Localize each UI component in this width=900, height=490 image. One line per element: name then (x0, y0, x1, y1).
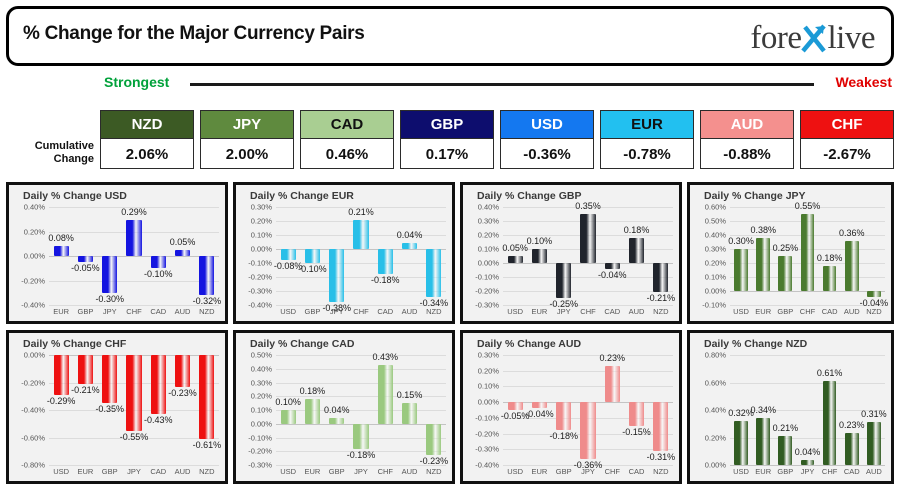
chart-panel-aud[interactable]: Daily % Change AUD0.30%0.20%0.10%0.00%-0… (460, 330, 682, 484)
bar[interactable] (175, 355, 190, 387)
x-axis-tick-label: CHF (605, 467, 620, 476)
bar[interactable] (329, 418, 344, 424)
bar[interactable] (199, 256, 214, 295)
bar[interactable] (605, 366, 620, 402)
y-axis-tick-label: 0.60% (692, 203, 726, 212)
plot-area: 0.40%0.30%0.20%0.10%0.00%-0.10%-0.20%-0.… (463, 185, 679, 321)
bar-value-label: -0.55% (120, 432, 149, 442)
cumulative-value: -0.36% (500, 138, 594, 169)
bar-value-label: 0.08% (48, 233, 74, 243)
y-axis-tick-label: 0.20% (465, 231, 499, 240)
x-axis-tick-label: EUR (532, 467, 548, 476)
y-axis-tick-label: 0.00% (238, 419, 272, 428)
x-axis-tick-label: AUD (402, 307, 418, 316)
chart-panel-gbp[interactable]: Daily % Change GBP0.40%0.30%0.20%0.10%0.… (460, 182, 682, 324)
cumulative-cell-gbp[interactable]: GBP0.17% (400, 110, 494, 170)
y-axis-tick-label: -0.20% (238, 447, 272, 456)
bar-value-label: 0.30% (728, 236, 754, 246)
gridline (276, 355, 446, 356)
y-axis-tick-label: 0.40% (11, 203, 45, 212)
currency-code-badge: EUR (600, 110, 694, 138)
gridline (49, 465, 219, 466)
y-axis-tick-label: 0.00% (692, 461, 726, 470)
x-axis-tick-label: USD (733, 307, 749, 316)
bar[interactable] (734, 249, 748, 291)
bar-value-label: -0.30% (95, 294, 124, 304)
bar-value-label: 0.23% (839, 420, 865, 430)
y-axis-tick-label: -0.80% (11, 461, 45, 470)
chart-panel-chf[interactable]: Daily % Change CHF0.00%-0.20%-0.40%-0.60… (6, 330, 228, 484)
bar-value-label: 0.55% (795, 201, 821, 211)
bar[interactable] (629, 238, 644, 263)
logo-x-arrow-icon (802, 21, 828, 55)
bar-value-label: 0.18% (624, 225, 650, 235)
x-axis-tick-label: EUR (532, 307, 548, 316)
x-axis-tick-label: JPY (330, 307, 344, 316)
bar-value-label: 0.04% (324, 405, 350, 415)
y-axis-tick-label: -0.30% (238, 287, 272, 296)
x-axis-tick-label: EUR (755, 467, 771, 476)
bar[interactable] (734, 421, 748, 465)
bar-value-label: -0.31% (647, 452, 676, 462)
cumulative-value: -2.67% (800, 138, 894, 169)
bar[interactable] (378, 365, 393, 424)
bar[interactable] (823, 381, 837, 465)
gridline (503, 386, 673, 387)
bar-value-label: 0.18% (300, 386, 326, 396)
bar[interactable] (845, 241, 859, 291)
zero-baseline (503, 263, 673, 264)
weakest-label: Weakest (835, 74, 892, 90)
bar[interactable] (556, 263, 571, 298)
plot-area: 0.30%0.20%0.10%0.00%-0.10%-0.20%-0.30%-0… (463, 333, 679, 481)
y-axis-tick-label: 0.10% (465, 245, 499, 254)
bar-value-label: 0.31% (861, 409, 887, 419)
zero-baseline (49, 256, 219, 257)
bar[interactable] (78, 256, 93, 262)
gridline (503, 355, 673, 356)
bar[interactable] (402, 243, 417, 249)
plot-area: 0.80%0.60%0.40%0.20%0.00%0.32%USD0.34%EU… (690, 333, 891, 481)
bar-value-label: -0.61% (193, 440, 222, 450)
bar[interactable] (756, 418, 770, 465)
y-axis-tick-label: 0.20% (465, 366, 499, 375)
bar-value-label: 0.21% (773, 423, 799, 433)
strength-rail: Strongest Weakest (0, 72, 900, 94)
y-axis-tick-label: -0.20% (238, 273, 272, 282)
gridline (503, 277, 673, 278)
x-axis-tick-label: EUR (305, 467, 321, 476)
plot-area: 0.40%0.20%0.00%-0.20%-0.40%0.08%EUR-0.05… (9, 185, 225, 321)
y-axis-tick-label: -0.30% (465, 301, 499, 310)
x-axis-tick-label: GBP (102, 467, 118, 476)
plot-area: 0.00%-0.20%-0.40%-0.60%-0.80%-0.29%USD-0… (9, 333, 225, 481)
bar-value-label: 0.38% (750, 225, 776, 235)
cumulative-cell-chf[interactable]: CHF-2.67% (800, 110, 894, 170)
x-axis-tick-label: CHF (800, 307, 815, 316)
bar[interactable] (426, 249, 441, 297)
bar-value-label: 0.34% (750, 405, 776, 415)
bar[interactable] (305, 399, 320, 424)
bar[interactable] (508, 402, 523, 410)
gridline (503, 291, 673, 292)
cumulative-value: 0.17% (400, 138, 494, 169)
x-axis-tick-label: USD (280, 467, 296, 476)
gridline (276, 383, 446, 384)
currency-code-badge: JPY (200, 110, 294, 138)
y-axis-tick-label: 0.80% (692, 351, 726, 360)
y-axis-tick-label: 0.30% (238, 378, 272, 387)
strongest-label: Strongest (104, 74, 169, 90)
bar[interactable] (151, 256, 166, 268)
cumulative-cell-eur[interactable]: EUR-0.78% (600, 110, 694, 170)
gridline (503, 305, 673, 306)
currency-code-badge: CHF (800, 110, 894, 138)
bar[interactable] (199, 355, 214, 439)
y-axis-tick-label: 0.30% (692, 245, 726, 254)
bar[interactable] (756, 238, 770, 291)
logo-text-pre: fore (750, 20, 801, 57)
y-axis-tick-label: 0.00% (11, 351, 45, 360)
x-axis-tick-label: GBP (305, 307, 321, 316)
cumulative-cell-jpy[interactable]: JPY2.00% (200, 110, 294, 170)
x-axis-tick-label: EUR (755, 307, 771, 316)
bar-value-label: -0.29% (47, 396, 76, 406)
bar-value-label: -0.15% (622, 427, 651, 437)
zero-baseline (730, 291, 885, 292)
bar[interactable] (54, 355, 69, 395)
x-axis-tick-label: GBP (556, 467, 572, 476)
plot-area: 0.50%0.40%0.30%0.20%0.10%0.00%-0.10%-0.2… (236, 333, 452, 481)
y-axis-tick-label: -0.20% (11, 378, 45, 387)
x-axis-tick-label: NZD (199, 467, 214, 476)
bar-value-label: 0.29% (121, 207, 147, 217)
bar[interactable] (778, 256, 792, 291)
y-axis-tick-label: 0.50% (692, 217, 726, 226)
y-axis-tick-label: -0.20% (465, 287, 499, 296)
currency-code-badge: GBP (400, 110, 494, 138)
x-axis-tick-label: NZD (199, 307, 214, 316)
currency-code-badge: CAD (300, 110, 394, 138)
x-axis-tick-label: JPY (354, 467, 368, 476)
forex-percent-change-dashboard: % Change for the Major Currency Pairs fo… (0, 0, 900, 490)
x-axis-tick-label: AUD (844, 307, 860, 316)
x-axis-tick-label: CAD (604, 307, 620, 316)
cumulative-cell-aud[interactable]: AUD-0.88% (700, 110, 794, 170)
bar[interactable] (532, 402, 547, 408)
bar-value-label: 0.18% (817, 253, 843, 263)
zero-baseline (730, 465, 885, 466)
header-bar: % Change for the Major Currency Pairs fo… (6, 6, 894, 66)
x-axis-tick-label: USD (280, 307, 296, 316)
cumulative-change-label: Cumulative Change (2, 140, 94, 166)
bar[interactable] (54, 246, 69, 256)
y-axis-tick-label: 0.40% (692, 406, 726, 415)
forexlive-logo: forelive (750, 17, 875, 59)
bar[interactable] (532, 249, 547, 263)
bar[interactable] (281, 249, 296, 260)
y-axis-tick-label: -0.60% (11, 433, 45, 442)
bar-value-label: 0.05% (502, 243, 528, 253)
bar-value-label: 0.61% (817, 368, 843, 378)
bar[interactable] (653, 402, 668, 451)
bar[interactable] (329, 249, 344, 302)
x-axis-tick-label: CHF (126, 307, 141, 316)
zero-baseline (276, 249, 446, 250)
x-axis-tick-label: NZD (426, 467, 441, 476)
chart-panel-usd[interactable]: Daily % Change USD0.40%0.20%0.00%-0.20%-… (6, 182, 228, 324)
bar[interactable] (305, 249, 320, 263)
bar[interactable] (653, 263, 668, 292)
bar-value-label: -0.04% (525, 409, 554, 419)
logo-text-post: live (828, 20, 875, 57)
bar[interactable] (508, 256, 523, 263)
cumulative-cell-nzd[interactable]: NZD2.06% (100, 110, 194, 170)
bar[interactable] (151, 355, 166, 414)
chart-panel-cad[interactable]: Daily % Change CAD0.50%0.40%0.30%0.20%0.… (233, 330, 455, 484)
x-axis-tick-label: CAD (629, 467, 645, 476)
gridline (276, 277, 446, 278)
bar[interactable] (867, 422, 881, 465)
x-axis-tick-label: GBP (78, 307, 94, 316)
x-axis-tick-label: USD (53, 467, 69, 476)
bar-value-label: -0.35% (95, 404, 124, 414)
x-axis-tick-label: AUD (402, 467, 418, 476)
x-axis-tick-label: CHF (580, 307, 595, 316)
bar-value-label: 0.21% (348, 207, 374, 217)
currency-code-badge: AUD (700, 110, 794, 138)
gridline (276, 369, 446, 370)
bar[interactable] (823, 266, 837, 291)
page-title: % Change for the Major Currency Pairs (23, 23, 365, 45)
bar[interactable] (845, 433, 859, 465)
bar-value-label: 0.04% (795, 447, 821, 457)
bar-value-label: 0.10% (275, 397, 301, 407)
cumulative-cell-usd[interactable]: USD-0.36% (500, 110, 594, 170)
cumulative-value: -0.88% (700, 138, 794, 169)
y-axis-tick-label: 0.40% (692, 231, 726, 240)
y-axis-tick-label: 0.10% (692, 273, 726, 282)
x-axis-tick-label: CHF (378, 467, 393, 476)
bar[interactable] (778, 436, 792, 465)
cumulative-value: 0.46% (300, 138, 394, 169)
cumulative-cell-cad[interactable]: CAD0.46% (300, 110, 394, 170)
y-axis-tick-label: 0.10% (238, 406, 272, 415)
y-axis-tick-label: -0.10% (465, 273, 499, 282)
gridline (276, 410, 446, 411)
bar[interactable] (175, 250, 190, 256)
bar[interactable] (353, 424, 368, 449)
cumulative-value: 2.06% (100, 138, 194, 169)
x-axis-tick-label: GBP (777, 467, 793, 476)
y-axis-tick-label: 0.30% (238, 203, 272, 212)
bar-value-label: -0.21% (71, 385, 100, 395)
chart-panel-jpy[interactable]: Daily % Change JPY0.60%0.50%0.40%0.30%0.… (687, 182, 894, 324)
gridline (730, 355, 885, 356)
bar[interactable] (426, 424, 441, 456)
x-axis-tick-label: JPY (127, 467, 141, 476)
cumulative-value: -0.78% (600, 138, 694, 169)
bar-value-label: 0.36% (839, 228, 865, 238)
bar-value-label: 0.35% (575, 201, 601, 211)
x-axis-tick-label: GBP (329, 467, 345, 476)
x-axis-tick-label: JPY (103, 307, 117, 316)
x-axis-tick-label: AUD (629, 307, 645, 316)
x-axis-tick-label: USD (733, 467, 749, 476)
x-axis-tick-label: EUR (53, 307, 69, 316)
x-axis-tick-label: NZD (653, 307, 668, 316)
bar-value-label: -0.18% (549, 431, 578, 441)
plot-area: 0.30%0.20%0.10%0.00%-0.10%-0.20%-0.30%-0… (236, 185, 452, 321)
currency-code-badge: USD (500, 110, 594, 138)
y-axis-tick-label: -0.30% (238, 461, 272, 470)
bar[interactable] (556, 402, 571, 430)
y-axis-tick-label: 0.20% (238, 217, 272, 226)
bar[interactable] (126, 355, 141, 431)
x-axis-tick-label: CAD (150, 307, 166, 316)
y-axis-tick-label: 0.10% (238, 231, 272, 240)
y-axis-tick-label: 0.00% (11, 252, 45, 261)
bar[interactable] (378, 249, 393, 274)
bar[interactable] (102, 256, 117, 293)
bar-value-label: -0.05% (71, 263, 100, 273)
bar[interactable] (629, 402, 644, 426)
y-axis-tick-label: 0.40% (238, 364, 272, 373)
x-axis-tick-label: NZD (426, 307, 441, 316)
y-axis-tick-label: -0.40% (11, 301, 45, 310)
bar[interactable] (353, 220, 368, 249)
bar-value-label: -0.18% (371, 275, 400, 285)
bar[interactable] (281, 410, 296, 424)
x-axis-tick-label: JPY (557, 307, 571, 316)
x-axis-tick-label: GBP (777, 307, 793, 316)
bar-value-label: -0.21% (647, 293, 676, 303)
y-axis-tick-label: -0.10% (692, 301, 726, 310)
y-axis-tick-label: 0.20% (238, 392, 272, 401)
y-axis-tick-label: -0.10% (238, 259, 272, 268)
bar[interactable] (126, 220, 141, 256)
y-axis-tick-label: -0.40% (11, 406, 45, 415)
y-axis-tick-label: 0.20% (11, 227, 45, 236)
x-axis-tick-label: JPY (581, 467, 595, 476)
bar-value-label: 0.43% (373, 352, 399, 362)
y-axis-tick-label: -0.20% (11, 276, 45, 285)
x-axis-tick-label: JPY (801, 467, 815, 476)
y-axis-tick-label: 0.00% (238, 245, 272, 254)
x-axis-tick-label: NZD (866, 307, 881, 316)
y-axis-tick-label: -0.40% (238, 301, 272, 310)
x-axis-tick-label: CHF (822, 467, 837, 476)
rail-divider-line (190, 83, 814, 86)
bar[interactable] (580, 214, 595, 263)
bar-value-label: -0.18% (347, 450, 376, 460)
y-axis-tick-label: -0.20% (465, 429, 499, 438)
x-axis-tick-label: CHF (353, 307, 368, 316)
bar-value-label: 0.05% (170, 237, 196, 247)
y-axis-tick-label: 0.00% (465, 259, 499, 268)
y-axis-tick-label: 0.30% (465, 217, 499, 226)
y-axis-tick-label: 0.30% (465, 351, 499, 360)
bar-value-label: 0.23% (600, 353, 626, 363)
gridline (276, 291, 446, 292)
gridline (730, 438, 885, 439)
bar-value-label: 0.10% (527, 236, 553, 246)
y-axis-tick-label: -0.30% (465, 445, 499, 454)
bar-value-label: -0.23% (168, 388, 197, 398)
cumulative-change-row: NZD2.06%JPY2.00%CAD0.46%GBP0.17%USD-0.36… (100, 110, 894, 170)
x-axis-tick-label: USD (507, 307, 523, 316)
y-axis-tick-label: 0.10% (465, 382, 499, 391)
bar[interactable] (867, 291, 881, 297)
bar-value-label: -0.10% (144, 269, 173, 279)
x-axis-tick-label: CAD (377, 307, 393, 316)
bar-value-label: 0.15% (397, 390, 423, 400)
bar-value-label: -0.04% (598, 270, 627, 280)
x-axis-tick-label: EUR (78, 467, 94, 476)
y-axis-tick-label: 0.20% (692, 259, 726, 268)
x-axis-tick-label: CAD (150, 467, 166, 476)
x-axis-tick-label: CAD (822, 307, 838, 316)
chart-panel-eur[interactable]: Daily % Change EUR0.30%0.20%0.10%0.00%-0… (233, 182, 455, 324)
bar[interactable] (78, 355, 93, 384)
bar[interactable] (402, 403, 417, 424)
y-axis-tick-label: 0.60% (692, 378, 726, 387)
chart-panel-nzd[interactable]: Daily % Change NZD0.80%0.60%0.40%0.20%0.… (687, 330, 894, 484)
x-axis-tick-label: AUD (866, 467, 882, 476)
gridline (503, 371, 673, 372)
bar-value-label: 0.25% (773, 243, 799, 253)
cumulative-value: 2.00% (200, 138, 294, 169)
bar-value-label: -0.23% (420, 456, 449, 466)
x-axis-tick-label: AUD (175, 307, 191, 316)
bar[interactable] (102, 355, 117, 403)
plot-area: 0.60%0.50%0.40%0.30%0.20%0.10%0.00%-0.10… (690, 185, 891, 321)
bar[interactable] (580, 402, 595, 459)
y-axis-tick-label: -0.10% (238, 433, 272, 442)
y-axis-tick-label: 0.40% (465, 203, 499, 212)
gridline (49, 281, 219, 282)
y-axis-tick-label: 0.00% (692, 287, 726, 296)
bar-value-label: -0.43% (144, 415, 173, 425)
bar[interactable] (801, 214, 815, 291)
bar-value-label: -0.10% (298, 264, 327, 274)
currency-code-badge: NZD (100, 110, 194, 138)
y-axis-tick-label: -0.10% (465, 413, 499, 422)
bar[interactable] (605, 263, 620, 269)
x-axis-tick-label: AUD (175, 467, 191, 476)
bar-value-label: -0.32% (193, 296, 222, 306)
y-axis-tick-label: 0.00% (465, 398, 499, 407)
x-axis-tick-label: CAD (844, 467, 860, 476)
bar-value-label: 0.04% (397, 230, 423, 240)
gridline (730, 383, 885, 384)
y-axis-tick-label: 0.20% (692, 433, 726, 442)
y-axis-tick-label: 0.50% (238, 351, 272, 360)
y-axis-tick-label: -0.40% (465, 461, 499, 470)
x-axis-tick-label: NZD (653, 467, 668, 476)
x-axis-tick-label: USD (507, 467, 523, 476)
bar[interactable] (801, 460, 815, 466)
